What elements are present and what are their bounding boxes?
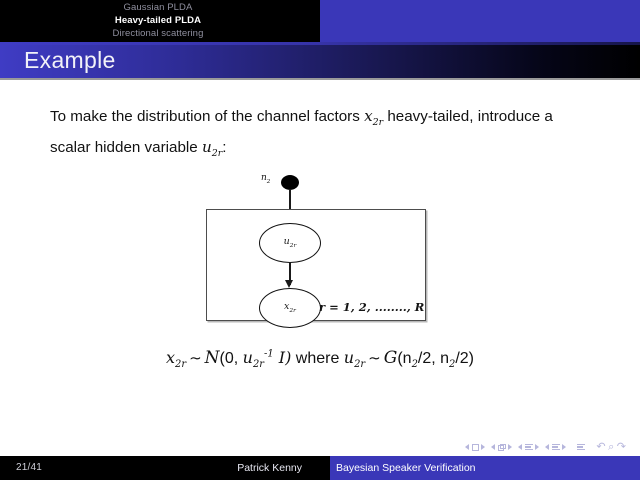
document-icon[interactable] [577, 444, 585, 451]
next-subsection-icon[interactable] [535, 444, 539, 450]
nav-section-group[interactable] [545, 444, 566, 451]
nav-item-heavy-tailed-plda[interactable]: Heavy-tailed PLDA [0, 14, 320, 27]
section-nav-list: Gaussian PLDA Heavy-tailed PLDA Directio… [0, 1, 320, 40]
paragraph-line1-text-b: heavy-tailed, [383, 108, 473, 125]
equation-dist2-args-open: (n [397, 350, 411, 367]
beamer-navigation-symbols: ↶ ⌕ ↷ [465, 440, 626, 454]
latent-node-x2r-label: x2r [260, 301, 320, 314]
prev-slide-icon[interactable] [465, 444, 469, 450]
equation-line: x2r∼N(0, u2r-1 I) where u2r∼G(n2/2, n2/2… [0, 348, 640, 370]
page-title: Example [24, 47, 116, 74]
latent-node-x2r-label-sub: 2r [289, 308, 296, 314]
footer-author: Patrick Kenny [0, 462, 330, 474]
next-frame-icon[interactable] [508, 444, 512, 450]
equation-dist1-var-sub: 2r [253, 359, 264, 370]
nav-doc-group[interactable] [577, 444, 585, 451]
header-navigation-bar: Gaussian PLDA Heavy-tailed PLDA Directio… [0, 0, 640, 42]
prev-section-icon[interactable] [545, 444, 549, 450]
equation-dist1-var-u2r: u2r-1 [243, 348, 274, 367]
nav-item-directional-scattering[interactable]: Directional scattering [0, 27, 320, 40]
observed-node-n2 [281, 175, 299, 190]
equation-lhs-var-sub: 2r [175, 359, 186, 370]
body-paragraph: To make the distribution of the channel … [50, 104, 595, 166]
nav-item-gaussian-plda[interactable]: Gaussian PLDA [0, 1, 320, 14]
inline-var-u2r-1: u2r [202, 138, 222, 156]
prev-frame-icon[interactable] [491, 444, 495, 450]
equation-lhs-var-base: x [166, 348, 175, 367]
inline-var-u-sub: 2r [212, 148, 222, 159]
forward-arrow-icon[interactable]: ↷ [617, 442, 626, 452]
header-nav-panel: Gaussian PLDA Heavy-tailed PLDA Directio… [0, 0, 320, 42]
equation-normal-dist-symbol: N [205, 348, 220, 368]
edge-u2r-to-x2r-arrowhead [285, 280, 293, 288]
latent-node-u2r: u2r [259, 223, 321, 263]
inline-var-u-base: u [202, 138, 212, 156]
inline-var-x2r-1: x2r [364, 107, 383, 125]
slide-icon[interactable] [472, 444, 479, 451]
next-slide-icon[interactable] [481, 444, 485, 450]
bayesian-network-diagram: n2 u2r x2r r = 1, 2, ........, R [195, 172, 440, 332]
equation-lhs-var: x2r [166, 348, 186, 367]
inline-var-x-base: x [364, 107, 373, 125]
back-arrow-icon[interactable]: ↶ [596, 442, 605, 452]
prev-subsection-icon[interactable] [518, 444, 522, 450]
equation-dist1-args-open: (0, [220, 350, 243, 367]
slide-footer: 21/41 Patrick Kenny Bayesian Speaker Ver… [0, 456, 640, 480]
nav-frame-group[interactable] [491, 444, 512, 451]
equation-tilde-1: ∼ [186, 350, 205, 367]
equation-dist1-var-base: u [243, 348, 253, 367]
paragraph-line1-text-a: To make the distribution of the channel … [50, 108, 364, 125]
equation-tilde-2: ∼ [365, 350, 384, 367]
paragraph-line2-text-b: : [222, 139, 226, 156]
nav-slide-group[interactable] [465, 444, 485, 451]
frame-icon[interactable] [498, 444, 506, 451]
nav-history-group[interactable]: ↶ ⌕ ↷ [596, 442, 626, 452]
node-label-n2: n2 [261, 173, 270, 185]
node-label-n2-sub: 2 [267, 179, 271, 185]
latent-node-x2r: x2r [259, 288, 321, 328]
equation-rhs-var-u2r: u2r [344, 348, 365, 367]
equation-connector-where: where [291, 350, 343, 367]
equation-dist2-args-mid: /2, n [418, 350, 449, 367]
title-bar-top-strip [0, 42, 640, 45]
equation-rhs-var-base: u [344, 348, 354, 367]
equation-dist2-args-end: /2) [455, 350, 474, 367]
slide-content: To make the distribution of the channel … [0, 80, 640, 435]
equation-dist1-args-close: I) [274, 348, 292, 367]
equation-rhs-var-sub: 2r [354, 359, 365, 370]
subsection-icon[interactable] [525, 444, 533, 451]
section-icon[interactable] [552, 444, 560, 451]
equation-gamma-dist-symbol: G [384, 348, 398, 368]
slide-title-bar: Example [0, 42, 640, 78]
search-icon[interactable]: ⌕ [608, 442, 614, 452]
next-section-icon[interactable] [562, 444, 566, 450]
plate-label: r = 1, 2, ........, R [319, 300, 424, 314]
latent-node-u2r-label-sub: 2r [290, 243, 297, 249]
footer-presentation-title: Bayesian Speaker Verification [336, 462, 476, 474]
equation-dist1-var-sup: -1 [264, 349, 274, 360]
inline-var-x-sub: 2r [373, 117, 383, 128]
latent-node-u2r-label: u2r [260, 236, 320, 249]
nav-subsection-group[interactable] [518, 444, 539, 451]
